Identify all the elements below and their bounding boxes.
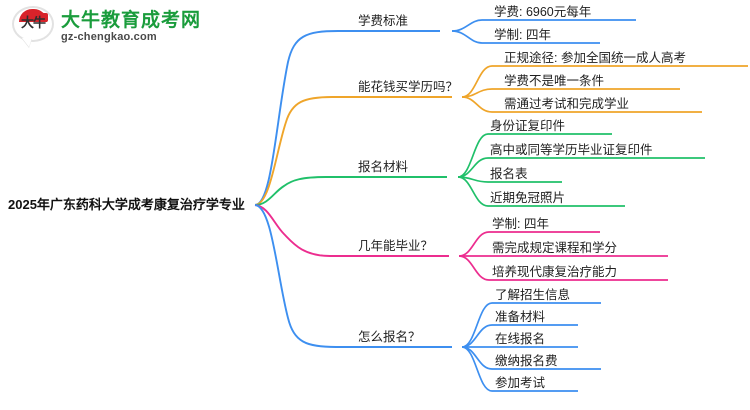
mindmap-root-node[interactable]: 2025年广东药科大学成考康复治疗学专业 xyxy=(8,197,245,213)
branch-label-5[interactable]: 怎么报名？ xyxy=(358,329,421,345)
mindmap-canvas: 大牛 大牛教育成考网 gz-chengkao.com xyxy=(0,0,750,410)
leaf-label-1-1[interactable]: 学费: 6960元每年 xyxy=(494,4,591,20)
leaf-label-5-4[interactable]: 缴纳报名费 xyxy=(495,353,558,369)
leaf-label-5-3[interactable]: 在线报名 xyxy=(495,331,545,347)
trunk-5 xyxy=(255,205,452,347)
trunk-3 xyxy=(255,177,447,205)
leaf-label-5-5[interactable]: 参加考试 xyxy=(495,375,545,391)
leaf-label-4-2[interactable]: 需完成规定课程和学分 xyxy=(492,240,617,256)
leaf-label-3-1[interactable]: 身份证复印件 xyxy=(490,118,565,134)
leaf-label-1-2[interactable]: 学制: 四年 xyxy=(494,27,551,43)
leaf-label-5-2[interactable]: 准备材料 xyxy=(495,309,545,325)
branch-label-3[interactable]: 报名材料 xyxy=(358,159,408,175)
leaf-label-4-1[interactable]: 学制: 四年 xyxy=(492,216,549,232)
leaf-label-4-3[interactable]: 培养现代康复治疗能力 xyxy=(492,264,617,280)
leaf-label-3-2[interactable]: 高中或同等学历毕业证复印件 xyxy=(490,142,653,158)
trunk-1 xyxy=(255,31,440,205)
branch-label-1[interactable]: 学费标准 xyxy=(358,13,408,29)
leaf-label-3-4[interactable]: 近期免冠照片 xyxy=(490,190,565,206)
branch-label-4[interactable]: 几年能毕业？ xyxy=(358,238,433,254)
trunk-2 xyxy=(255,97,452,205)
leaf-label-2-2[interactable]: 学费不是唯一条件 xyxy=(504,73,604,89)
leaf-label-5-1[interactable]: 了解招生信息 xyxy=(495,287,570,303)
leaf-label-2-3[interactable]: 需通过考试和完成学业 xyxy=(504,96,629,112)
leaf-label-3-3[interactable]: 报名表 xyxy=(490,166,528,182)
branch-label-2[interactable]: 能花钱买学历吗？ xyxy=(358,79,458,95)
leaf-label-2-1[interactable]: 正规途径: 参加全国统一成人高考 xyxy=(504,50,686,66)
